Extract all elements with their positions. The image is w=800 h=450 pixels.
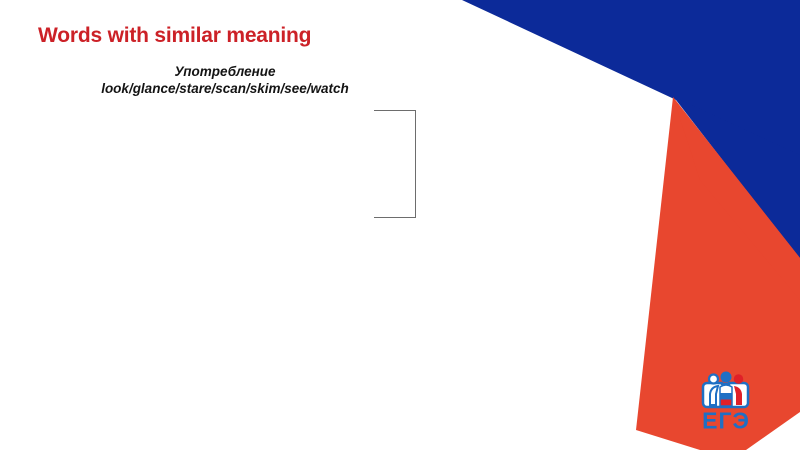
logo-head-center-icon [721, 372, 732, 383]
logo-head-right-icon [734, 374, 744, 384]
subtitle-line-2: look/glance/stare/scan/skim/see/watch [60, 81, 390, 98]
subtitle-block: Употребление look/glance/stare/scan/skim… [60, 64, 390, 97]
page-title: Words with similar meaning [38, 24, 311, 48]
ege-logo: ЕГЭ [690, 370, 762, 432]
look-row-right-extension [374, 110, 416, 218]
logo-wordmark: ЕГЭ [702, 408, 750, 433]
logo-torso-red [720, 400, 732, 407]
logo-torso-blue [720, 393, 732, 400]
logo-arm-left [710, 386, 718, 405]
subtitle-line-1: Употребление [60, 64, 390, 81]
logo-head-left-icon [709, 375, 718, 384]
